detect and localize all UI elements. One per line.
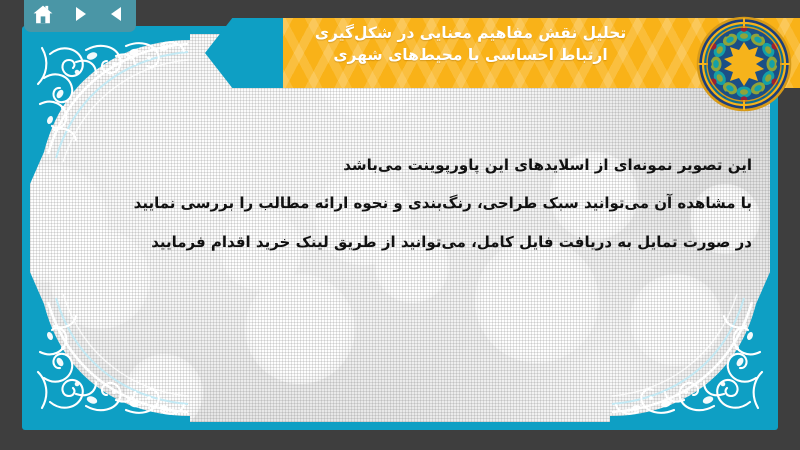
next-triangle-icon [71,5,89,23]
title-line: ارتباط احساسی با محیط‌های شهری [333,45,607,65]
home-icon [33,5,53,24]
bokeh-circle [245,274,355,384]
body-line: در صورت تمایل به دریافت فایل کامل، می‌تو… [82,223,752,261]
previous-triangle-icon [108,5,126,23]
page-title: تحلیل نقش مفاهیم معنایی در شکل‌گیری ارتب… [205,0,800,88]
previous-button[interactable] [104,2,130,26]
next-button[interactable] [67,2,93,26]
slide-body-text: این تصویر نمونه‌ای از اسلایدهای این پاور… [82,146,752,261]
body-line: این تصویر نمونه‌ای از اسلایدهای این پاور… [82,146,752,184]
home-button[interactable] [30,2,56,26]
body-line: با مشاهده آن می‌توانید سبک طراحی، رنگ‌بن… [82,184,752,222]
bokeh-circle [630,274,722,366]
bokeh-circle [125,354,203,422]
slide-viewer: این تصویر نمونه‌ای از اسلایدهای این پاور… [0,0,800,450]
title-line: تحلیل نقش مفاهیم معنایی در شکل‌گیری [315,23,626,43]
slide-title-banner: تحلیل نقش مفاهیم معنایی در شکل‌گیری ارتب… [205,0,800,88]
navigation-bar [24,0,136,32]
